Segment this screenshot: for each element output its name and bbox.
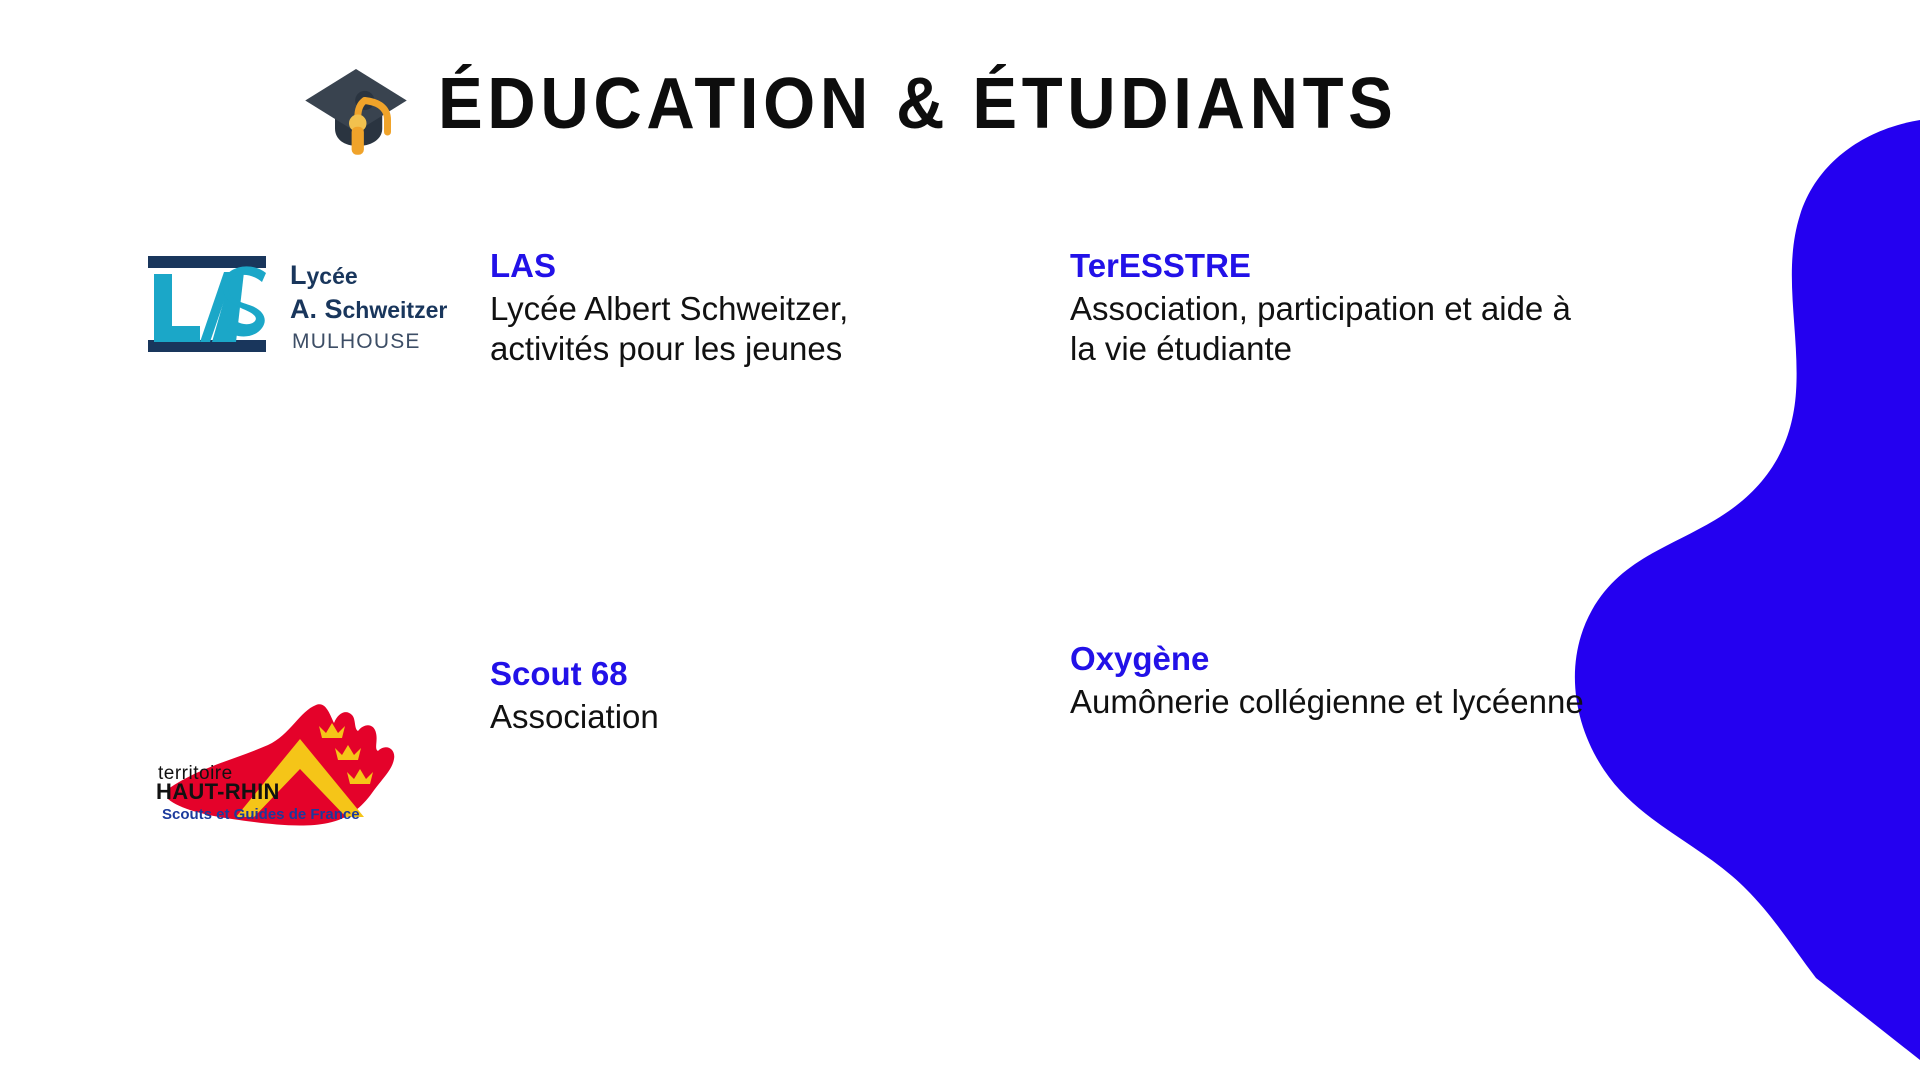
entry-las: Lycée A. Schweitzer MULHOUSE LAS Lycée A… xyxy=(140,240,848,368)
page-title: ÉDUCATION & ÉTUDIANTS xyxy=(438,68,1397,140)
entry-text-teresstre: TerESSTRE Association, participation et … xyxy=(1070,240,1571,368)
entry-scout68: territoire HAUT-RHIN Scouts et Guides de… xyxy=(140,655,659,833)
svg-text:A. Schweitzer: A. Schweitzer xyxy=(290,294,447,324)
entry-name-scout68: Scout 68 xyxy=(490,655,659,694)
scout68-logo: territoire HAUT-RHIN Scouts et Guides de… xyxy=(140,693,470,833)
svg-text:HAUT-RHIN: HAUT-RHIN xyxy=(156,779,280,804)
entries-grid: Lycée A. Schweitzer MULHOUSE LAS Lycée A… xyxy=(0,0,1920,1080)
entry-name-teresstre: TerESSTRE xyxy=(1070,247,1571,286)
svg-text:Scouts et Guides de France: Scouts et Guides de France xyxy=(162,806,360,823)
entry-name-las: LAS xyxy=(490,247,848,286)
entry-text-las: LAS Lycée Albert Schweitzer, activités p… xyxy=(490,240,848,368)
entry-description-scout68: Association xyxy=(490,697,659,737)
las-logo: Lycée A. Schweitzer MULHOUSE xyxy=(140,240,470,360)
svg-text:MULHOUSE: MULHOUSE xyxy=(292,330,421,353)
entry-description-oxygene: Aumônerie collégienne et lycéenne xyxy=(1070,682,1584,722)
entry-description-teresstre: Association, participation et aide à la … xyxy=(1070,289,1571,368)
entry-description-las: Lycée Albert Schweitzer, activités pour … xyxy=(490,289,848,368)
entry-name-oxygene: Oxygène xyxy=(1070,640,1584,679)
entry-oxygene: Oxygène Aumônerie collégienne et lycéenn… xyxy=(1070,640,1584,722)
entry-teresstre: TerESSTRE Association, participation et … xyxy=(1070,240,1571,368)
entry-text-oxygene: Oxygène Aumônerie collégienne et lycéenn… xyxy=(1070,640,1584,722)
svg-text:Lycée: Lycée xyxy=(290,260,358,290)
slide-title-row: ÉDUCATION & ÉTUDIANTS xyxy=(300,48,1470,160)
entry-text-scout68: Scout 68 Association xyxy=(490,655,659,737)
graduation-cap-icon xyxy=(300,48,412,160)
